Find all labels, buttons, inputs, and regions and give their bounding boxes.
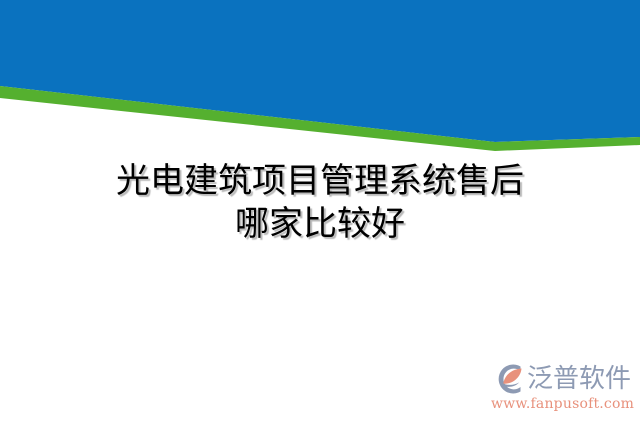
angled-header-banner [0,0,640,160]
brand-logo-row: 泛普软件 [490,361,631,397]
fanpu-c-arc-leaf-icon [490,362,526,396]
page-title-line-2: 哪家比较好 [0,203,640,246]
brand-logo: 泛普软件 www.fanpusoft.com [490,357,632,419]
page-title: 光电建筑项目管理系统售后 哪家比较好 [0,160,640,246]
slide-canvas: 光电建筑项目管理系统售后 哪家比较好 泛普软件 www.fanpusoft.co… [0,0,640,427]
brand-wordmark: 泛普软件 [527,365,631,393]
brand-url: www.fanpusoft.com [491,396,632,412]
page-title-line-1: 光电建筑项目管理系统售后 [0,160,640,203]
banner-blue-shape [0,0,640,142]
